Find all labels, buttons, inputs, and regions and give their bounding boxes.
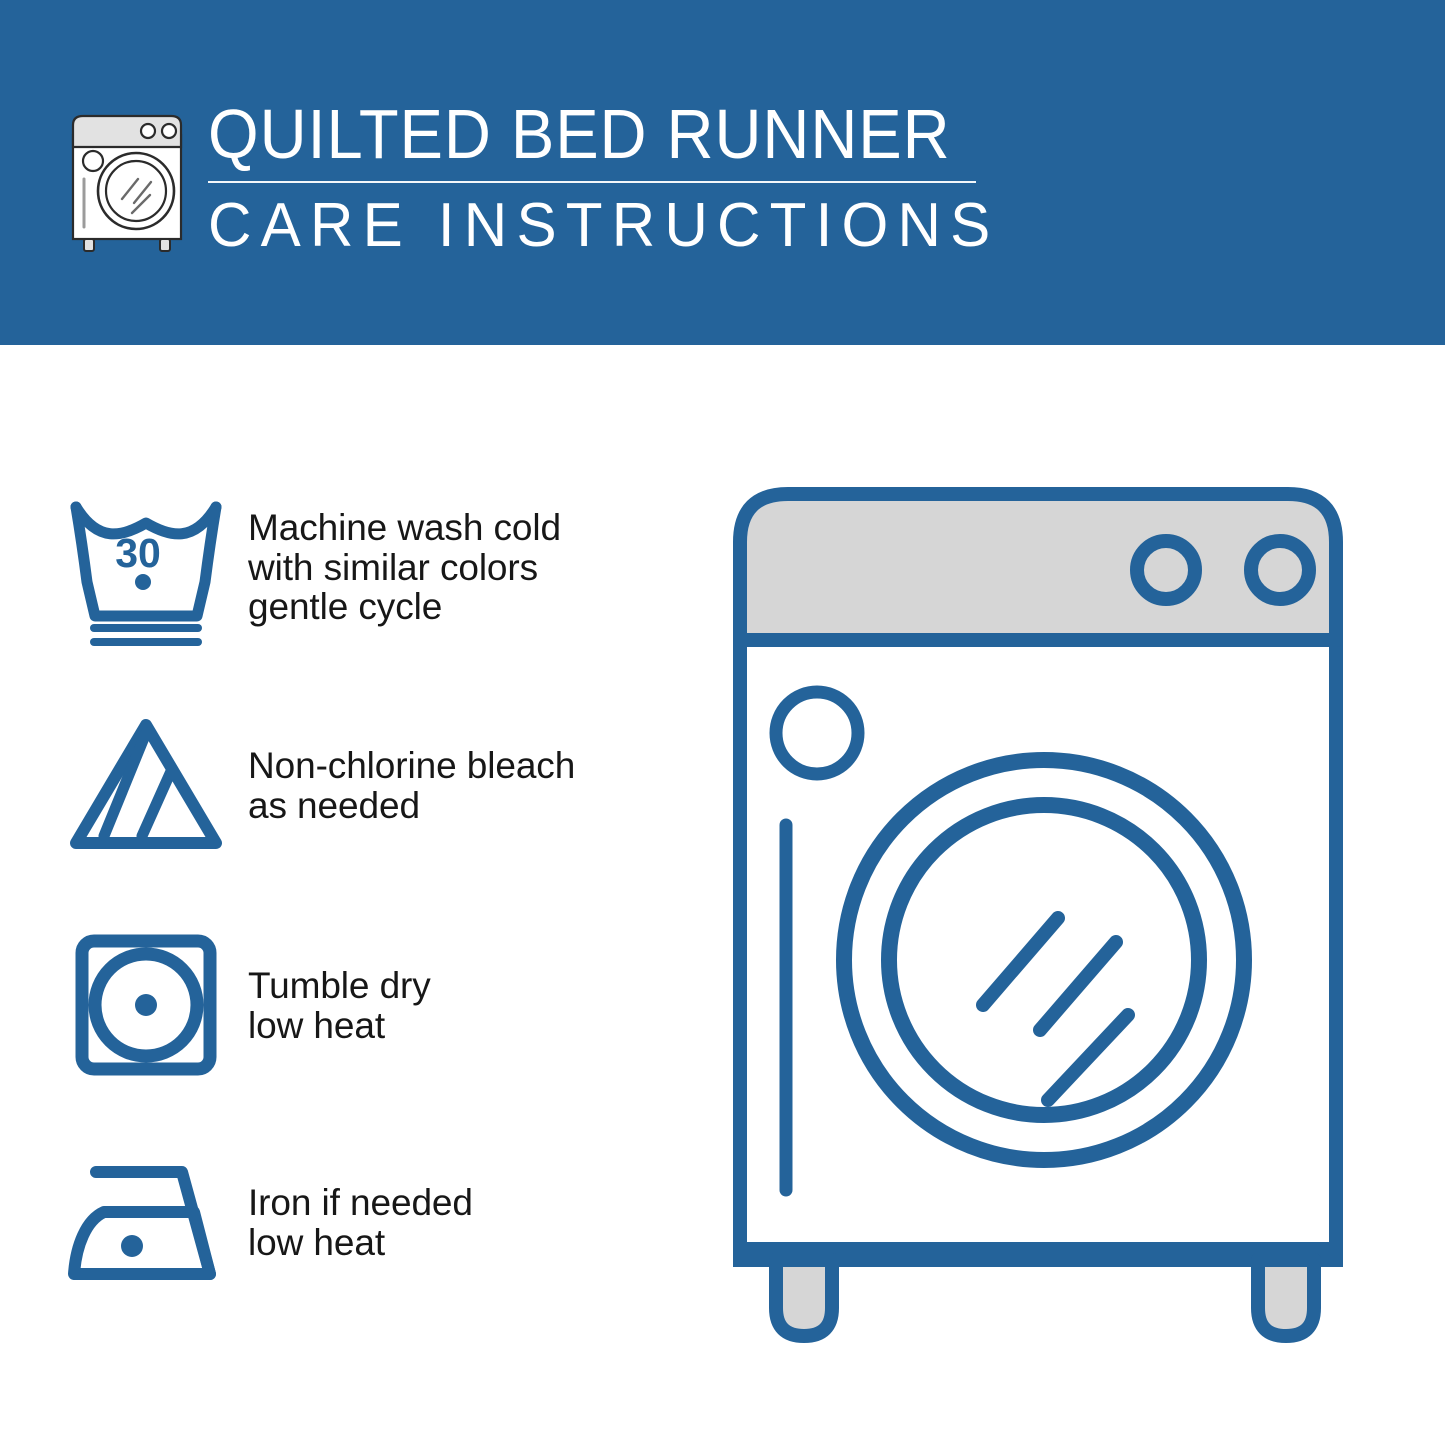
header-text-block: QUILTED BED RUNNER CARE INSTRUCTIONS <box>208 96 988 260</box>
machine-leg-left <box>776 1260 832 1336</box>
care-instructions-infographic: QUILTED BED RUNNER CARE INSTRUCTIONS 30 <box>0 0 1445 1445</box>
iron-low-heat-icon <box>60 1140 232 1305</box>
machine-leg-right <box>1258 1260 1314 1336</box>
wash-temperature-label: 30 <box>115 530 161 576</box>
control-knob-right <box>1251 541 1309 599</box>
tumble-dry-low-heat-icon <box>60 923 232 1088</box>
control-knob-left <box>1137 541 1195 599</box>
care-row-machine-wash: 30 Machine wash cold with similar colors… <box>60 485 640 650</box>
washing-machine-illustration <box>718 470 1358 1370</box>
care-label-tumble-dry: Tumble dry low heat <box>248 966 431 1045</box>
washing-machine-icon <box>66 103 188 253</box>
detergent-dispenser <box>776 692 858 774</box>
wash-basin-30-gentle-icon: 30 <box>60 485 232 650</box>
page-title: QUILTED BED RUNNER <box>208 96 933 172</box>
care-label-bleach: Non-chlorine bleach as needed <box>248 746 575 825</box>
care-label-machine-wash: Machine wash cold with similar colors ge… <box>248 508 561 627</box>
care-instruction-list: 30 Machine wash cold with similar colors… <box>0 345 660 1445</box>
care-row-bleach: Non-chlorine bleach as needed <box>60 703 640 868</box>
header-divider <box>208 181 976 183</box>
header-band: QUILTED BED RUNNER CARE INSTRUCTIONS <box>0 0 1445 345</box>
care-row-iron: Iron if needed low heat <box>60 1140 640 1305</box>
care-label-iron: Iron if needed low heat <box>248 1183 473 1262</box>
drum-inner-ring <box>889 805 1199 1115</box>
care-row-tumble-dry: Tumble dry low heat <box>60 923 640 1088</box>
page-subtitle: CARE INSTRUCTIONS <box>208 192 965 260</box>
non-chlorine-bleach-triangle-icon <box>60 703 232 868</box>
